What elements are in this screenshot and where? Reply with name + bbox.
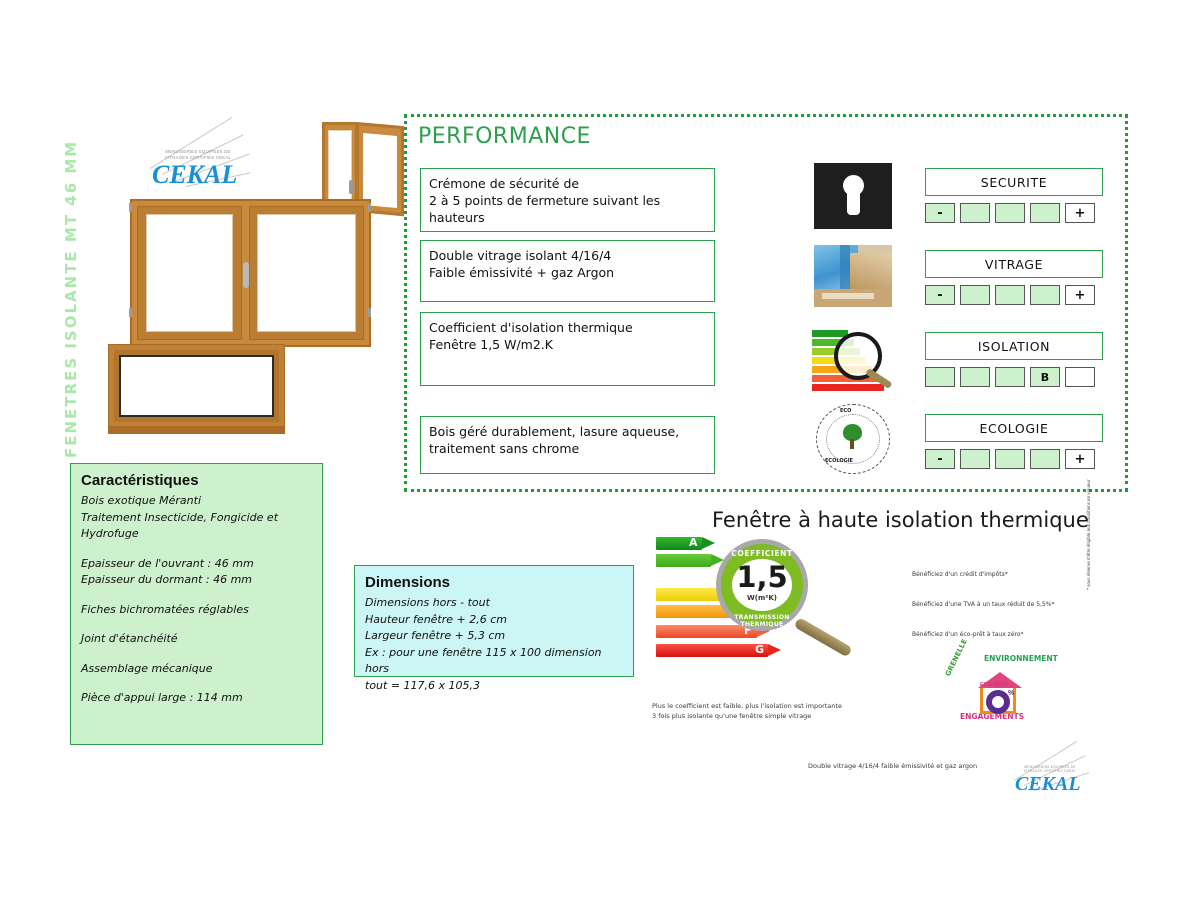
rating-cell-vitrage-1[interactable]: - <box>925 285 955 305</box>
energy-magnifier-icon <box>812 326 898 396</box>
dimensions-line-3: Largeur fenêtre + 5,3 cm <box>365 628 623 645</box>
vertical-product-title: FENETRES ISOLANTE MT 46 MM <box>62 118 88 458</box>
energy-bar-a: A <box>656 537 716 550</box>
grenelle-environnement-logo: GRENELLE ENVIRONNEMENT ENGAGEMENTS ECO-P… <box>942 648 1056 728</box>
energy-caption-line2: 3 fois plus isolante qu'une fenêtre simp… <box>652 712 811 720</box>
benefit-item-3: Bénéficiez d'un éco-prêt à taux zéro* <box>912 631 1024 638</box>
rating-cells-securite[interactable]: - + <box>925 203 1095 223</box>
characteristics-line-4: Epaisseur de l'ouvrant : 46 mm <box>81 556 312 573</box>
coefficient-unit: W(m²K) <box>732 594 792 602</box>
magnifier-handle <box>794 617 853 658</box>
rating-cell-ecologie-1[interactable]: - <box>925 449 955 469</box>
characteristics-line-1: Bois exotique Méranti <box>81 493 312 510</box>
eco-tree-icon: ECO ECOLOGIE <box>816 404 890 474</box>
magnifier-bottom-label: TRANSMISSION THERMIQUE <box>721 614 803 628</box>
cekal-tagline-line1: MENUISERIES EQUIPEES DE <box>150 149 246 154</box>
performance-box-insulation: Coefficient d'isolation thermique Fenêtr… <box>420 312 715 386</box>
grenelle-badge-unit: % <box>1008 690 1014 697</box>
characteristics-line-7: Joint d'étanchéité <box>81 631 312 648</box>
dimensions-line-1: Dimensions hors - tout <box>365 595 623 612</box>
glazing-photo-icon <box>814 245 892 307</box>
dimensions-line-4: Ex : pour une fenêtre 115 x 100 dimensio… <box>365 645 623 678</box>
performance-box-cremone: Crémone de sécurité de 2 à 5 points de f… <box>420 168 715 232</box>
energy-label-graphic: A F G <box>656 537 886 697</box>
rating-cell-vitrage-2[interactable] <box>960 285 990 305</box>
cekal-bottom-wordmark: CEKAL <box>1015 774 1081 794</box>
grenelle-badge-top: ECO-PRET <box>980 682 1008 688</box>
coefficient-magnifier: COEFFICIENT 1,5 W(m²K) TRANSMISSION THER… <box>716 539 808 631</box>
performance-box-cremone-line1: Crémone de sécurité de <box>429 175 706 192</box>
characteristics-line-5: Epaisseur du dormant : 46 mm <box>81 572 312 589</box>
energy-caption-line1: Plus le coefficient est faible, plus l'i… <box>652 702 842 710</box>
dimensions-line-5: tout = 117,6 x 105,3 <box>365 678 623 695</box>
performance-box-ecology-line1: Bois géré durablement, lasure aqueuse, <box>429 423 706 440</box>
rating-cell-securite-2[interactable] <box>960 203 990 223</box>
rating-cells-vitrage[interactable]: - + <box>925 285 1095 305</box>
magnifier-top-label: COEFFICIENT <box>721 549 803 558</box>
rating-label-isolation: ISOLATION <box>925 332 1103 360</box>
rating-cells-isolation[interactable]: B <box>925 367 1095 387</box>
performance-title: PERFORMANCE <box>418 124 591 149</box>
performance-box-ecology: Bois géré durablement, lasure aqueuse, t… <box>420 416 715 474</box>
rating-cell-isolation-2[interactable] <box>960 367 990 387</box>
rating-cell-vitrage-4[interactable] <box>1030 285 1060 305</box>
rating-label-ecologie: ECOLOGIE <box>925 414 1103 442</box>
rating-cell-isolation-1[interactable] <box>925 367 955 387</box>
performance-box-insulation-line2: Fenêtre 1,5 W/m2.K <box>429 336 706 353</box>
grenelle-word-left: GRENELLE <box>944 638 969 678</box>
cekal-logo-bottom: MENUISERIES EQUIPEES DE VITRAGES CERTIFI… <box>1006 756 1092 800</box>
rating-cell-vitrage-5[interactable]: + <box>1065 285 1095 305</box>
performance-box-glazing-line2: Faible émissivité + gaz Argon <box>429 264 706 281</box>
rating-cell-ecologie-3[interactable] <box>995 449 1025 469</box>
energy-bar-g-letter: G <box>755 643 764 656</box>
rating-cell-ecologie-2[interactable] <box>960 449 990 469</box>
rating-cells-ecologie[interactable]: - + <box>925 449 1095 469</box>
performance-box-cremone-line2: 2 à 5 points de fermeture suivant les <box>429 192 706 209</box>
characteristics-line-8: Assemblage mécanique <box>81 661 312 678</box>
rating-cell-ecologie-5[interactable]: + <box>1065 449 1095 469</box>
keyhole-icon <box>814 163 892 229</box>
rating-cell-isolation-5[interactable] <box>1065 367 1095 387</box>
benefit-item-1: Bénéficiez d'un crédit d'impôts* <box>912 571 1008 578</box>
grenelle-zero-ring <box>986 690 1010 714</box>
poster-page: FENETRES ISOLANTE MT 46 MM MENUISERIES E… <box>0 0 1202 901</box>
characteristics-card: Caractéristiques Bois exotique Méranti T… <box>70 463 323 745</box>
rating-cell-securite-4[interactable] <box>1030 203 1060 223</box>
coefficient-value: 1,5 <box>732 560 792 594</box>
rating-cell-isolation-4[interactable]: B <box>1030 367 1060 387</box>
rating-cell-securite-5[interactable]: + <box>1065 203 1095 223</box>
dimensions-line-2: Hauteur fenêtre + 2,6 cm <box>365 612 623 629</box>
dimensions-card: Dimensions Dimensions hors - tout Hauteu… <box>354 565 634 677</box>
characteristics-title: Caractéristiques <box>81 472 312 489</box>
benefit-item-2: Bénéficiez d'une TVA à un taux réduit de… <box>912 601 1054 608</box>
rating-label-securite: SECURITE <box>925 168 1103 196</box>
characteristics-line-2: Traitement Insecticide, Fongicide et <box>81 510 312 527</box>
performance-box-glazing-line1: Double vitrage isolant 4/16/4 <box>429 247 706 264</box>
performance-box-ecology-line2: traitement sans chrome <box>429 440 706 457</box>
thermal-heading: Fenêtre à haute isolation thermique <box>712 508 1089 532</box>
energy-bar-g: G <box>656 644 786 657</box>
characteristics-line-9: Pièce d'appui large : 114 mm <box>81 690 312 707</box>
rating-label-vitrage: VITRAGE <box>925 250 1103 278</box>
performance-box-cremone-line3: hauteurs <box>429 209 706 226</box>
rating-cell-ecologie-4[interactable] <box>1030 449 1060 469</box>
characteristics-line-6: Fiches bichromatées réglables <box>81 602 312 619</box>
rating-cell-securite-3[interactable] <box>995 203 1025 223</box>
rating-cell-isolation-3[interactable] <box>995 367 1025 387</box>
characteristics-line-3: Hydrofuge <box>81 526 312 543</box>
performance-box-insulation-line1: Coefficient d'isolation thermique <box>429 319 706 336</box>
cekal-logo-top: MENUISERIES EQUIPEES DE VITRAGES CERTIFI… <box>140 134 252 194</box>
energy-bar-a-letter: A <box>689 536 698 549</box>
legal-side-note: * sous réserve d'être éligible aux condi… <box>1086 520 1091 590</box>
energy-bar-b <box>656 554 726 567</box>
cekal-wordmark: CEKAL <box>152 162 237 188</box>
grenelle-word-top: ENVIRONNEMENT <box>984 654 1058 663</box>
rating-cell-vitrage-3[interactable] <box>995 285 1025 305</box>
performance-box-glazing: Double vitrage isolant 4/16/4 Faible émi… <box>420 240 715 302</box>
rating-cell-securite-1[interactable]: - <box>925 203 955 223</box>
footer-glazing-note: Double vitrage 4/16/4 faible émissivité … <box>808 762 977 770</box>
dimensions-title: Dimensions <box>365 574 623 591</box>
